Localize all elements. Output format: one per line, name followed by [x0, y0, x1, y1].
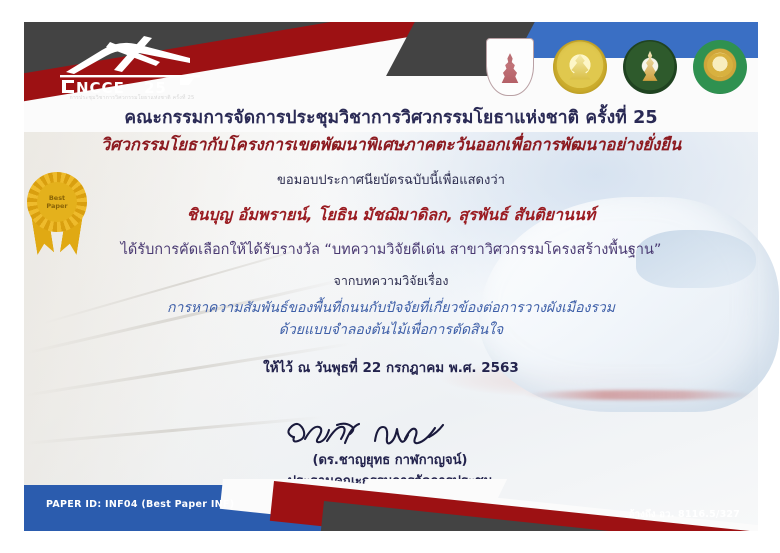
certificate-body: คณะกรรมการจัดการประชุมวิชาการวิศวกรรมโยธ…	[24, 100, 758, 378]
recipient-names: ชินบุญ อัมพรายน์, โยธิน มัชฌิมาดิลก, สุร…	[24, 204, 758, 226]
paper-title-line-1: การหาความสัมพันธ์ของพื้นที่ถนนกับปัจจัยท…	[167, 300, 615, 316]
organization-seals	[482, 38, 748, 96]
conference-subtitle: วิศวกรรมโยธากับโครงการเขตพัฒนาพิเศษภาคตะ…	[24, 134, 758, 156]
ncce-train-logo-icon: NCCE 25	[40, 32, 220, 96]
train-red-stripe	[524, 390, 754, 400]
seal-university-shield	[482, 38, 538, 96]
issue-date: ให้ไว้ ณ วันพุธที่ 22 กรกฎาคม พ.ศ. 2563	[24, 359, 758, 378]
award-line: ได้รับการคัดเลือกให้ได้รับรางวัล “บทความ…	[24, 240, 758, 260]
footer-band: PAPER ID: INF04 (Best Paper INF) อ้างถึง…	[24, 479, 758, 531]
seal-darkgreen-round	[622, 38, 678, 96]
ncce-logo: NCCE 25 การประชุมวิชาการวิศวกรรมโยธาแห่ง…	[40, 32, 220, 108]
presentation-line: ขอมอบประกาศนียบัตรฉบับนี้เพื่อแสดงว่า	[24, 172, 758, 190]
paper-title-line-2: ด้วยแบบจำลองต้นไม้เพื่อการตัดสินใจ	[24, 319, 758, 341]
signer-name: (ดร.ชาญยุทธ กาฬกาญจน์)	[0, 451, 780, 470]
conference-title: คณะกรรมการจัดการประชุมวิชาการวิศวกรรมโยธ…	[24, 106, 758, 130]
certificate: NCCE 25 การประชุมวิชาการวิศวกรรมโยธาแห่ง…	[0, 0, 780, 553]
paper-id-label: PAPER ID: INF04 (Best Paper INF)	[46, 499, 234, 510]
seal-green-round	[692, 38, 748, 96]
from-article-line: จากบทความวิจัยเรื่อง	[24, 272, 758, 289]
paper-title: การหาความสัมพันธ์ของพื้นที่ถนนกับปัจจัยท…	[24, 297, 758, 341]
signature-mark	[0, 415, 780, 451]
seal-gold-round	[552, 38, 608, 96]
reference-label: อ้างถึง อว. 8116.5/327	[629, 507, 740, 522]
handwritten-signature-icon	[275, 415, 505, 451]
